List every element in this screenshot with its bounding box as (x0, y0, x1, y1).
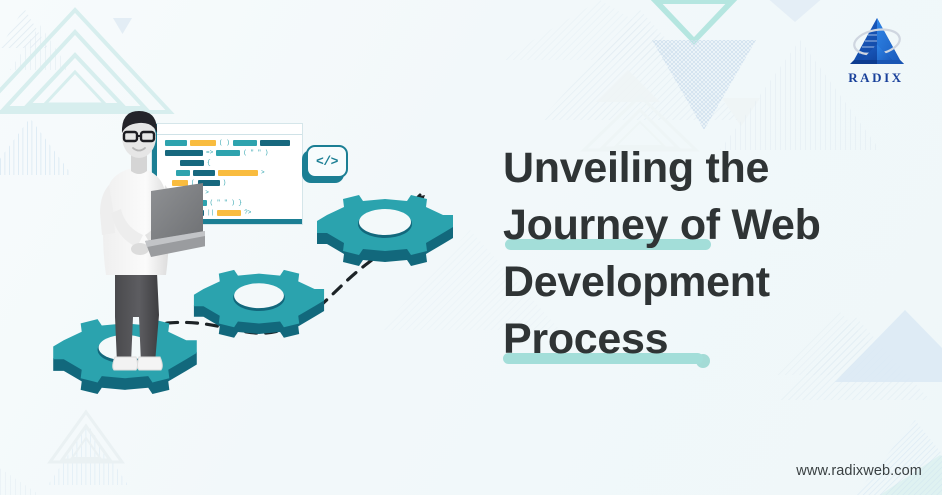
title-line-1: Unveiling the (503, 140, 769, 197)
code-token (217, 210, 241, 216)
title-line-3: Development (503, 254, 770, 311)
code-punctuation: => (206, 150, 213, 156)
hero-illustration: ( )=>( " " ){>()</>{( " " ) }||?> </> (40, 95, 500, 405)
code-token (216, 150, 240, 156)
code-punctuation: || (207, 210, 214, 216)
title-text-2: Journey of Web (503, 197, 821, 254)
title-text-1: Unveiling the (503, 140, 769, 197)
title-text-4: Process (503, 311, 668, 368)
code-token (260, 140, 290, 146)
code-punctuation: ( " " ) } (210, 200, 242, 206)
code-punctuation: ?> (244, 210, 251, 216)
code-token (233, 140, 257, 146)
code-tag-icon: </> (302, 145, 348, 183)
gear-large (315, 193, 455, 283)
brand-logo[interactable]: RADIX (830, 14, 922, 94)
code-punctuation: > (205, 190, 209, 196)
brand-name: RADIX (830, 70, 922, 86)
code-tag-label: </> (306, 145, 348, 178)
pyramid-ring-icon (844, 14, 910, 70)
promo-banner: ( )=>( " " ){>()</>{( " " ) }||?> </> (0, 0, 942, 495)
code-token (218, 170, 258, 176)
title-text-3: Development (503, 254, 770, 311)
gear-medium (192, 267, 326, 355)
code-punctuation: > (261, 170, 265, 176)
page-title: Unveiling the Journey of Web Development… (503, 140, 923, 368)
title-line-4: Process (503, 311, 668, 368)
website-url[interactable]: www.radixweb.com (796, 463, 922, 479)
code-punctuation: ( " " ) (243, 150, 268, 156)
code-punctuation: ( ) (219, 140, 230, 146)
title-line-2: Journey of Web (503, 197, 821, 254)
person-with-laptop-illustration (85, 105, 205, 395)
code-punctuation: ) (223, 180, 227, 186)
code-punctuation: { (207, 160, 211, 166)
